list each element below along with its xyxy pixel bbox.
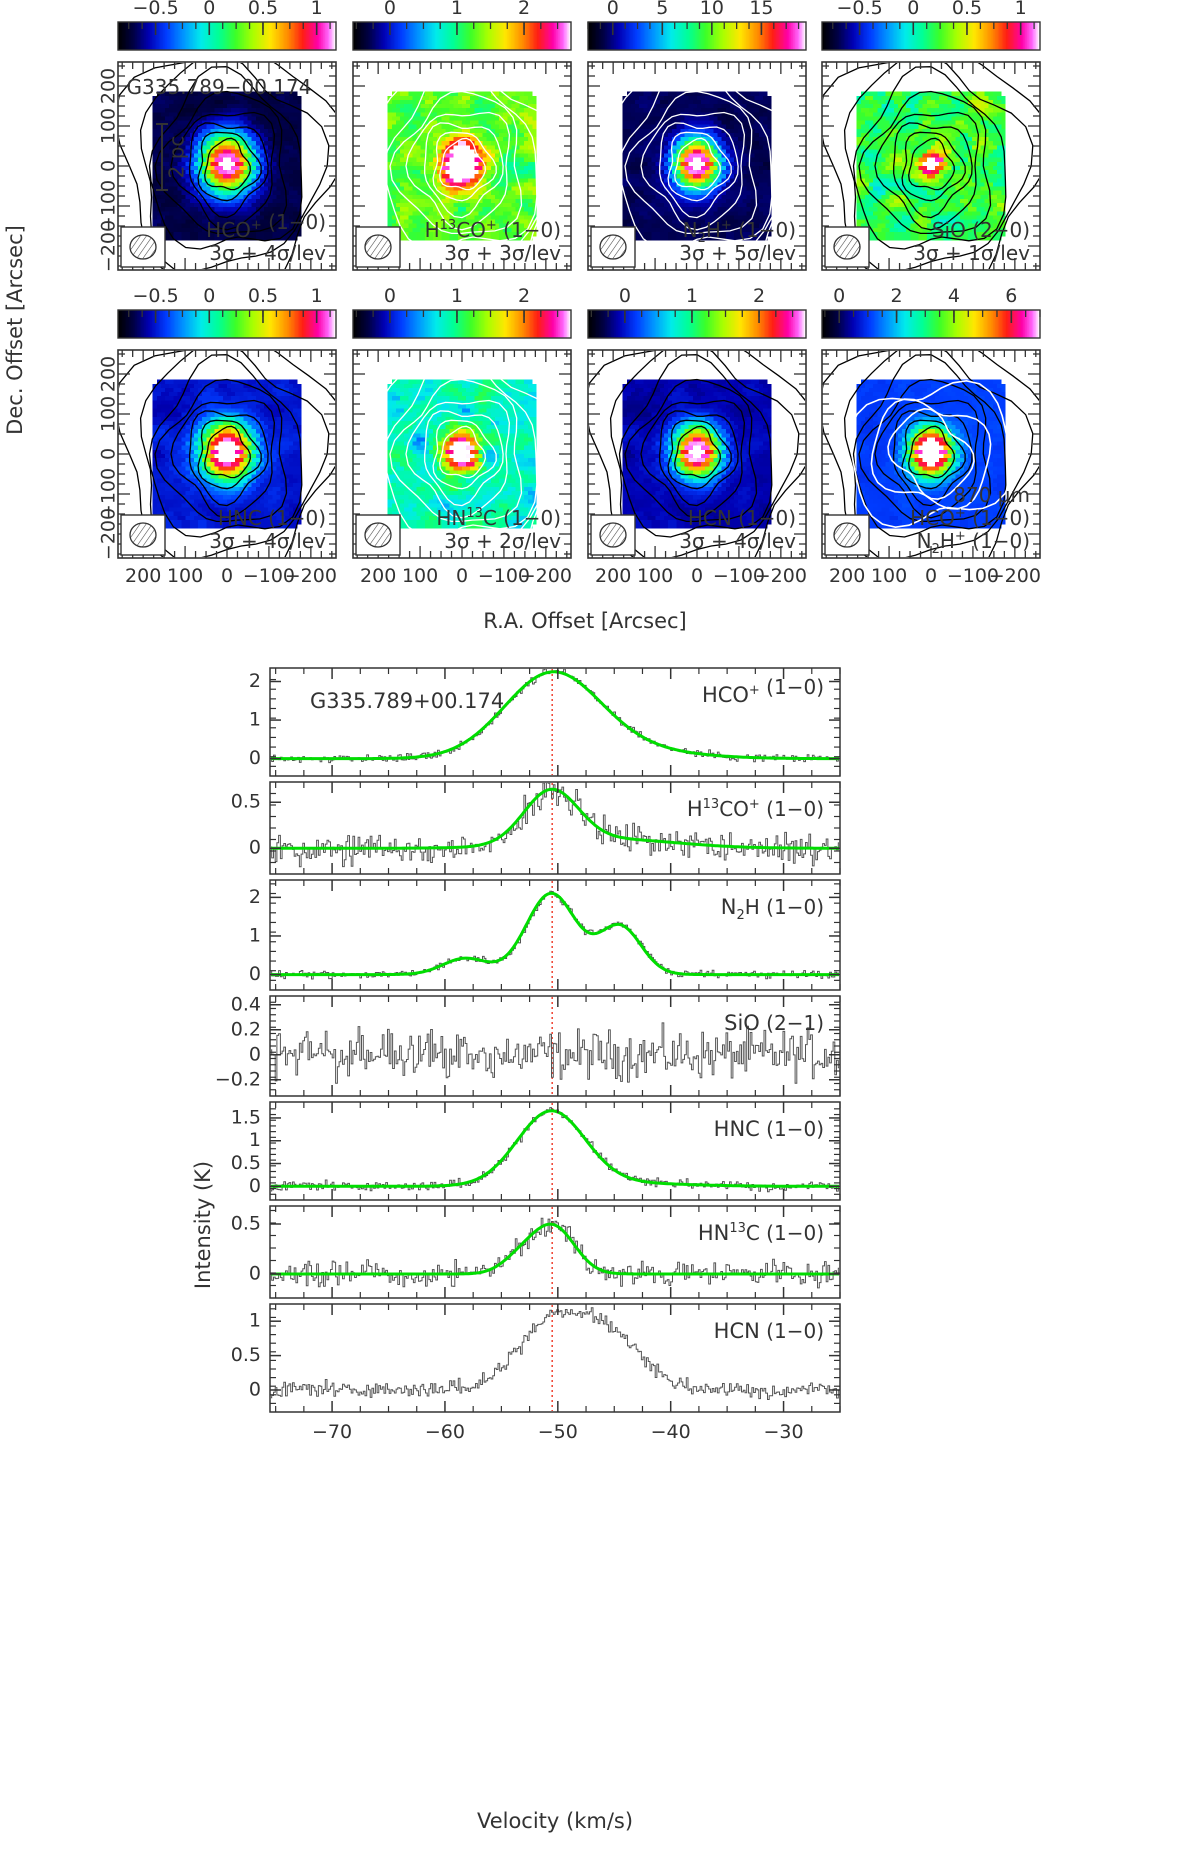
- y-tick-label: 0.5: [231, 1213, 261, 1235]
- beam-ellipse: [365, 523, 391, 547]
- map-panel-sio[interactable]: −0.500.51SiO (2−0)3σ + 1σ/lev: [819, 0, 1052, 295]
- colorbar-tick-label: 1: [451, 285, 463, 307]
- ra-tick-label: 0: [925, 565, 937, 587]
- y-tick-label: 0: [249, 1378, 261, 1400]
- intensity-axis-title: Intensity (K): [191, 1161, 215, 1289]
- colorbar-tick-label: −0.5: [133, 285, 179, 307]
- colorbar-cont870: 0246: [822, 285, 1041, 338]
- scalebar-label: 2 pc: [165, 136, 189, 179]
- astronomy-figure: −0.500.512001000−100−200HCO+ (1−0)3σ + 4…: [0, 0, 1200, 1853]
- beam-ellipse: [834, 235, 860, 259]
- beam-ellipse: [130, 235, 156, 259]
- colorbar-tick-label: 0: [619, 285, 631, 307]
- colorbar-sio: −0.500.51: [822, 0, 1041, 50]
- colorbar-hn13c: 012: [353, 285, 572, 338]
- colorbar-tick-label: 6: [1005, 285, 1017, 307]
- colorbar-tick-label: 1: [686, 285, 698, 307]
- colorbar-hnc: −0.500.51: [118, 285, 337, 338]
- map-panel-n2hp[interactable]: 051015N2H+ (1−0)3σ + 5σ/lev: [585, 0, 818, 295]
- colorbar-tick-label: 0.5: [248, 0, 278, 19]
- molecule-label: HCN (1−0): [688, 506, 796, 530]
- dec-tick-label: 0: [98, 448, 120, 460]
- velocity-tick-label: −70: [312, 1421, 352, 1443]
- contour-level-label: 3σ + 1σ/lev: [913, 241, 1030, 265]
- overlay-label-hcop: HCO+ (1−0): [910, 506, 1030, 530]
- colorbar-tick-label: 2: [518, 0, 530, 19]
- y-tick-label: 0: [249, 963, 261, 985]
- ra-tick-label: 200: [125, 565, 161, 587]
- velocity-tick-label: −40: [651, 1421, 691, 1443]
- colorbar-tick-label: 2: [518, 285, 530, 307]
- colorbar-tick-label: −0.5: [133, 0, 179, 19]
- beam-ellipse: [600, 523, 626, 547]
- y-tick-label: 0.5: [231, 791, 261, 813]
- velocity-tick-label: −60: [425, 1421, 465, 1443]
- beam-ellipse: [600, 235, 626, 259]
- dec-tick-label: −200: [98, 508, 120, 560]
- velocity-tick-label: −50: [538, 1421, 578, 1443]
- dec-tick-label: 200: [98, 68, 120, 104]
- dec-tick-label: 100: [98, 396, 120, 432]
- map-panel-hcop[interactable]: −0.500.512001000−100−200HCO+ (1−0)3σ + 4…: [98, 0, 348, 295]
- spectrum-panel-sp-hn13c[interactable]: 00.5HN13C (1−0): [231, 1206, 840, 1298]
- spectrum-panel-sp-hnc[interactable]: 00.511.5HNC (1−0): [231, 1102, 840, 1200]
- colorbar-tick-label: 1: [311, 285, 323, 307]
- colorbar-tick-label: 0: [203, 0, 215, 19]
- source-name-label: G335.789−00.174: [127, 75, 312, 99]
- colorbar-tick-label: 2: [891, 285, 903, 307]
- spectrum-panel-sp-hcop[interactable]: 012HCO+ (1−0)G335.789+00.174: [249, 668, 840, 776]
- colorbar-tick-label: 1: [1015, 0, 1027, 19]
- ra-tick-label: 0: [691, 565, 703, 587]
- y-tick-label: 1: [249, 924, 261, 946]
- colorbar-tick-label: 0: [833, 285, 845, 307]
- colorbar-tick-label: 0: [607, 0, 619, 19]
- dec-tick-label: 200: [98, 356, 120, 392]
- beam-ellipse: [130, 523, 156, 547]
- dec-tick-label: 0: [98, 160, 120, 172]
- molecule-label: SiO (2−0): [932, 218, 1030, 242]
- y-tick-label: 1: [249, 1310, 261, 1332]
- beam-ellipse: [365, 235, 391, 259]
- source-name-label-spectra: G335.789+00.174: [310, 689, 504, 713]
- colorbar-hcop: −0.500.51: [118, 0, 337, 50]
- ra-tick-label: 200: [829, 565, 865, 587]
- overlay-label-continuum: 870 μm: [953, 483, 1030, 507]
- y-tick-label: 0: [249, 1043, 261, 1065]
- y-tick-label: 0: [249, 747, 261, 769]
- molecule-label: SiO (2−1): [724, 1011, 824, 1035]
- map-panel-hnc[interactable]: −0.500.512001000−100−2002001000−100−200H…: [98, 285, 348, 587]
- spectrum-panel-sp-h13cop[interactable]: 00.5H13CO+ (1−0): [231, 774, 840, 874]
- y-tick-label: 0.5: [231, 1152, 261, 1174]
- ra-tick-label: 200: [360, 565, 396, 587]
- velocity-tick-label: −30: [764, 1421, 804, 1443]
- contour-level-label: 3σ + 4σ/lev: [679, 529, 796, 553]
- spectrum-panel-sp-n2hp[interactable]: 012N2H (1−0): [249, 880, 840, 990]
- y-tick-label: 0.4: [231, 993, 261, 1015]
- ra-tick-label: −200: [989, 565, 1041, 587]
- ra-tick-label: −200: [755, 565, 807, 587]
- colorbar-tick-label: −0.5: [837, 0, 883, 19]
- overlay-label-n2hp: N2H+ (1−0): [917, 529, 1030, 557]
- map-panel-h13cop[interactable]: 012H13CO+ (1−0)3σ + 3σ/lev: [350, 0, 583, 295]
- colorbar-tick-label: 0: [384, 0, 396, 19]
- spectrum-frame: [270, 782, 840, 874]
- ra-tick-label: 100: [871, 565, 907, 587]
- colorbar-tick-label: 0: [384, 285, 396, 307]
- y-tick-label: 1.5: [231, 1106, 261, 1128]
- y-tick-label: −0.2: [215, 1068, 261, 1090]
- colorbar-tick-label: 5: [656, 0, 668, 19]
- molecule-label: HN13C (1−0): [698, 1221, 824, 1245]
- y-tick-label: 0: [249, 1175, 261, 1197]
- y-tick-label: 0.2: [231, 1018, 261, 1040]
- map-panel-cont870[interactable]: 02462001000−100−200870 μmHCO+ (1−0)N2H+ …: [819, 285, 1052, 587]
- map-panel-hn13c[interactable]: 0122001000−100−200HN13C (1−0)3σ + 2σ/lev: [350, 285, 583, 587]
- y-tick-label: 0.5: [231, 1344, 261, 1366]
- velocity-axis-title: Velocity (km/s): [477, 1809, 633, 1833]
- molecule-label: HN13C (1−0): [436, 506, 561, 530]
- ra-tick-label: 0: [221, 565, 233, 587]
- ra-tick-label: −200: [520, 565, 572, 587]
- y-tick-label: 1: [249, 709, 261, 731]
- colorbar-tick-label: 10: [700, 0, 724, 19]
- contour-level-label: 3σ + 3σ/lev: [444, 241, 561, 265]
- dec-axis-title: Dec. Offset [Arcsec]: [3, 225, 27, 435]
- ra-tick-label: 100: [167, 565, 203, 587]
- y-tick-label: 0: [249, 1263, 261, 1285]
- colorbar-n2hp: 051015: [588, 0, 807, 50]
- molecule-label: N2H (1−0): [721, 895, 824, 923]
- colorbar-tick-label: 1: [311, 0, 323, 19]
- colorbar-tick-label: 0: [907, 0, 919, 19]
- ra-tick-label: 0: [456, 565, 468, 587]
- colorbar-tick-label: 4: [948, 285, 960, 307]
- colorbar-tick-label: 15: [749, 0, 773, 19]
- colorbar-hcn: 012: [588, 285, 807, 338]
- moment-map-grid: −0.500.512001000−100−200HCO+ (1−0)3σ + 4…: [98, 0, 1052, 587]
- ra-axis-title: R.A. Offset [Arcsec]: [483, 609, 687, 633]
- figure-root: −0.500.512001000−100−200HCO+ (1−0)3σ + 4…: [0, 0, 1200, 1853]
- dec-tick-label: −200: [98, 220, 120, 272]
- ra-tick-label: −200: [285, 565, 337, 587]
- dec-tick-label: 100: [98, 108, 120, 144]
- spectrum-frame: [270, 1206, 840, 1298]
- contour-level-label: 3σ + 5σ/lev: [679, 241, 796, 265]
- colorbar-tick-label: 0.5: [248, 285, 278, 307]
- colorbar-tick-label: 1: [451, 0, 463, 19]
- colorbar-tick-label: 2: [753, 285, 765, 307]
- colorbar-h13cop: 012: [353, 0, 572, 50]
- beam-ellipse: [834, 523, 860, 547]
- colorbar-tick-label: 0: [203, 285, 215, 307]
- contour-level-label: 3σ + 4σ/lev: [209, 241, 326, 265]
- contour-level-label: 3σ + 2σ/lev: [444, 529, 561, 553]
- map-panel-hcn[interactable]: 0122001000−100−200HCN (1−0)3σ + 4σ/lev: [585, 285, 818, 587]
- molecule-label: HNC (1−0): [218, 506, 326, 530]
- colorbar-tick-label: 0.5: [952, 0, 982, 19]
- spectra-stack: 012HCO+ (1−0)G335.789+00.17400.5H13CO+ (…: [215, 668, 840, 1443]
- ra-tick-label: 100: [637, 565, 673, 587]
- spectrum-panel-sp-sio[interactable]: −0.200.20.4SiO (2−1): [215, 993, 840, 1096]
- molecule-label: HCN (1−0): [714, 1319, 824, 1343]
- y-tick-label: 0: [249, 837, 261, 859]
- y-tick-label: 2: [249, 670, 261, 692]
- y-tick-label: 1: [249, 1129, 261, 1151]
- y-tick-label: 2: [249, 886, 261, 908]
- spectrum-panel-sp-hcn[interactable]: 00.51HCN (1−0)−70−60−50−40−30: [231, 1304, 840, 1443]
- molecule-label: HNC (1−0): [714, 1117, 824, 1141]
- contour-level-label: 3σ + 4σ/lev: [209, 529, 326, 553]
- ra-tick-label: 200: [595, 565, 631, 587]
- ra-tick-label: 100: [402, 565, 438, 587]
